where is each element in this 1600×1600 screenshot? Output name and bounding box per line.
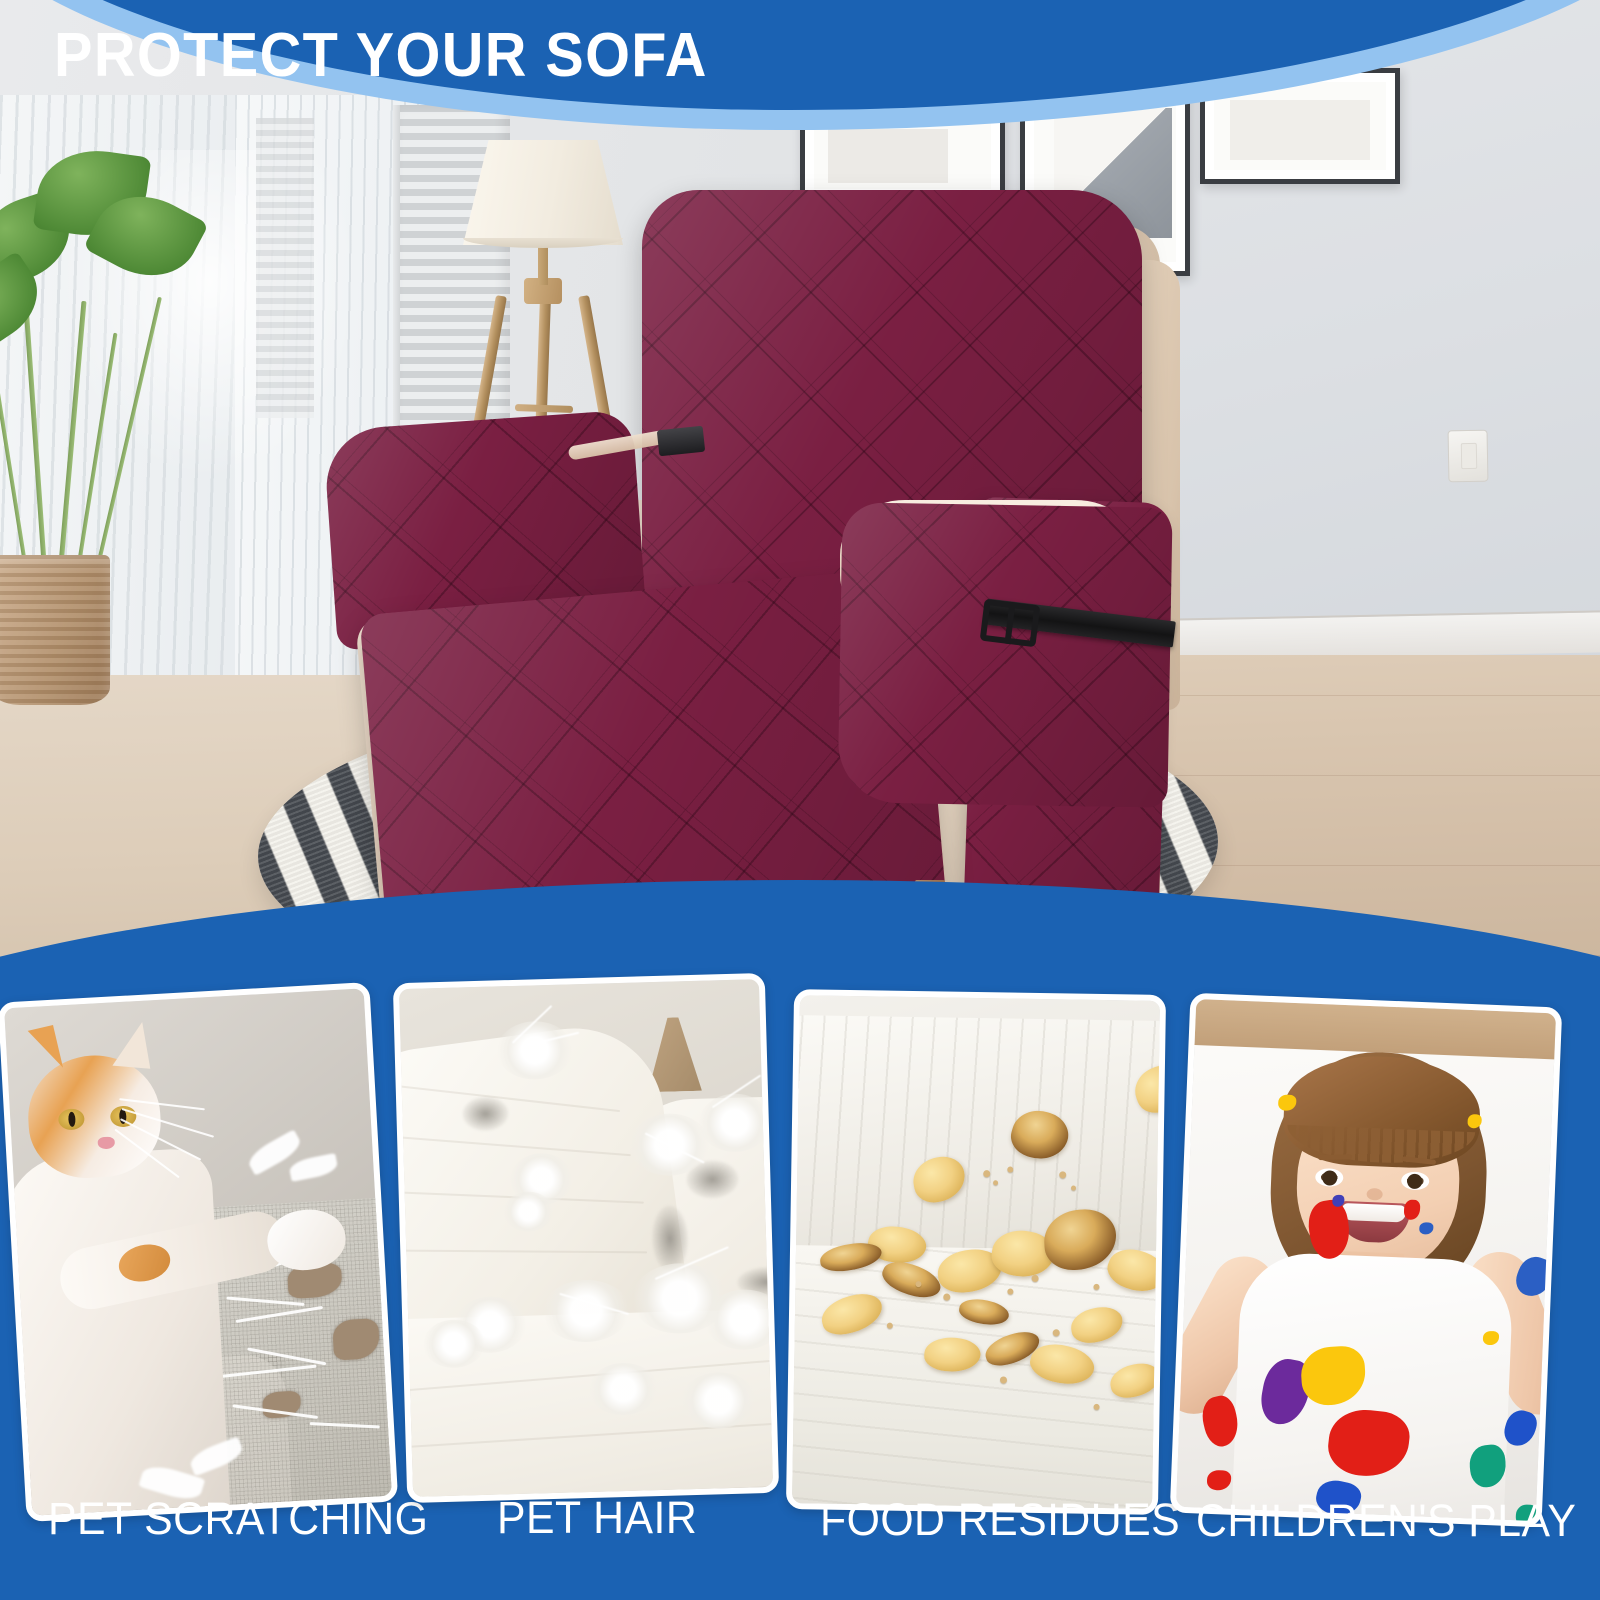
wall-outlet bbox=[1448, 430, 1489, 483]
hero-room-scene: PROTECT YOUR SOFA bbox=[0, 0, 1600, 1010]
cover-strap-clip-left bbox=[657, 426, 705, 457]
recliner-armchair bbox=[370, 170, 1210, 970]
cat-ear-right bbox=[112, 1020, 154, 1069]
feature-card-label-food-residues: FOOD RESIDUES bbox=[820, 1494, 1200, 1546]
product-infographic-poster: PROTECT YOUR SOFA bbox=[0, 0, 1600, 1600]
quilted-sofa-cover-arm-right bbox=[837, 502, 1172, 808]
feature-cards-row: PET SCRATCHING bbox=[0, 880, 1600, 1600]
page-title: PROTECT YOUR SOFA bbox=[54, 20, 708, 91]
feature-card-food-residues[interactable] bbox=[786, 989, 1166, 1515]
feature-card-childrens-play[interactable] bbox=[1170, 993, 1563, 1528]
hero-photograph bbox=[0, 0, 1600, 1010]
framed-wall-art-3 bbox=[1200, 68, 1400, 184]
food-residues-image bbox=[792, 995, 1160, 1509]
plant-pot bbox=[0, 555, 110, 705]
childrens-play-image bbox=[1176, 999, 1556, 1521]
feature-card-pet-scratching[interactable] bbox=[0, 982, 398, 1522]
pet-hair-image bbox=[399, 979, 773, 1497]
louver-shutter-far bbox=[256, 118, 314, 418]
feature-card-label-pet-scratching: PET SCRATCHING bbox=[48, 1493, 428, 1545]
feature-card-label-childrens-play: CHILDREN'S PLAY bbox=[1196, 1495, 1576, 1547]
feature-card-pet-hair[interactable] bbox=[393, 973, 779, 1503]
pet-scratching-image bbox=[4, 988, 392, 1515]
